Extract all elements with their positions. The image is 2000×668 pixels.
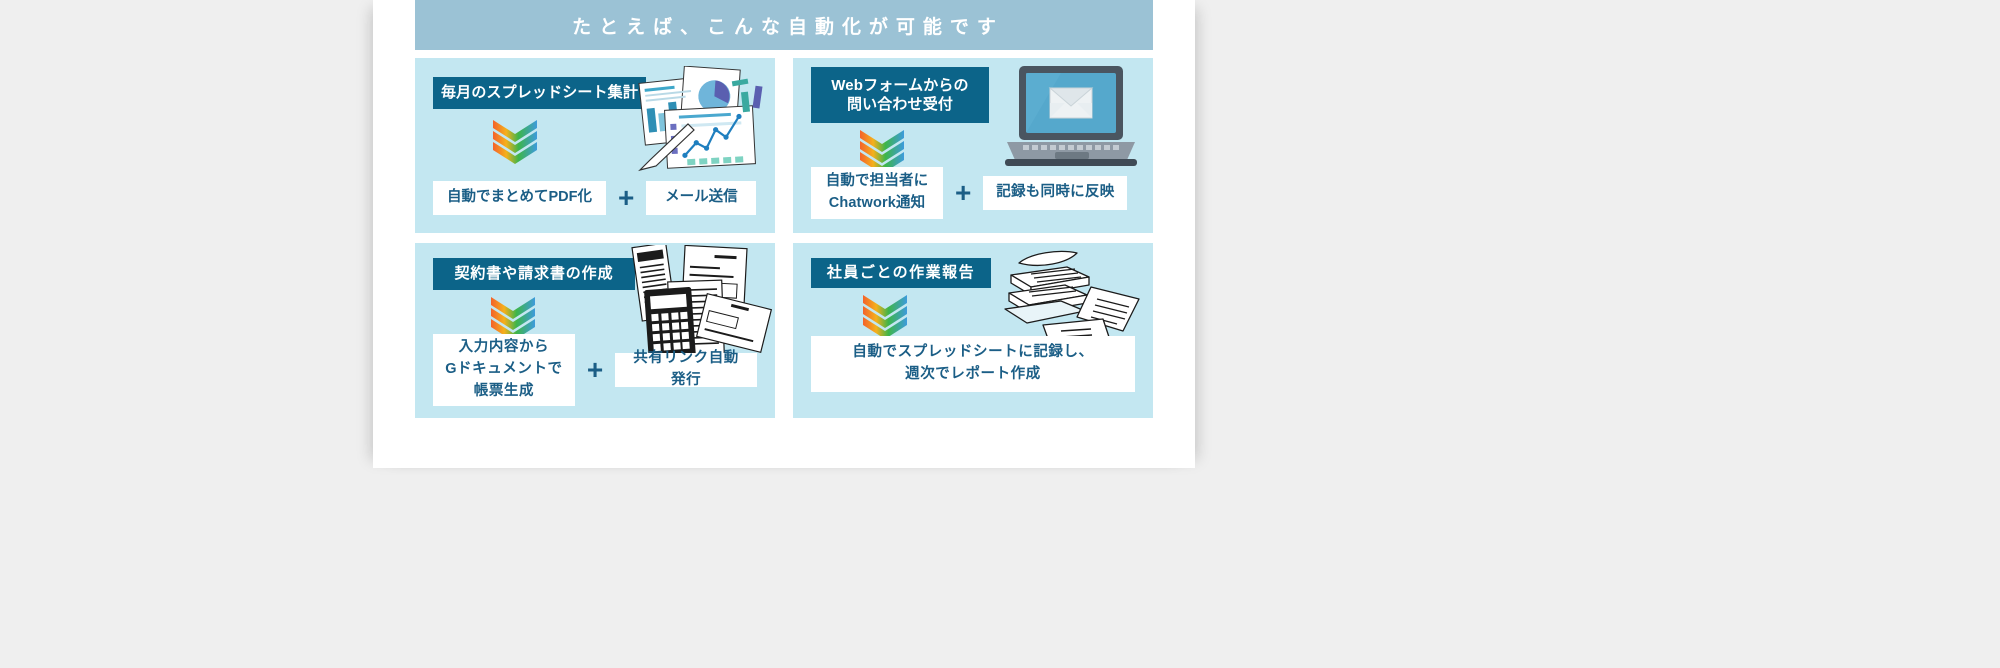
action-pill-chatwork[interactable]: 自動で担当者に Chatwork通知 — [811, 167, 943, 219]
action-pill-chatwork-line1: 自動で担当者に — [826, 173, 929, 189]
action-pill-gdoc-line3: 帳票生成 — [474, 383, 534, 399]
plus-connector-icon: + — [606, 184, 646, 212]
card-badge-line1: Webフォームからの — [831, 77, 968, 94]
card-badge: 契約書や請求書の作成 — [433, 258, 635, 290]
stacked-papers-illustration — [1001, 247, 1141, 347]
action-pill-chatwork-line2: Chatwork通知 — [829, 195, 926, 211]
card-spreadsheet-aggregation[interactable]: 毎月のスプレッドシート集計 — [415, 58, 775, 233]
action-pill-gdoc-line2: Gドキュメントで — [445, 361, 562, 377]
card-actions: 自動で担当者に Chatwork通知 + 記録も同時に反映 — [793, 167, 1153, 219]
action-pill-weekly-report[interactable]: 自動でスプレッドシートに記録し、 週次でレポート作成 — [811, 336, 1135, 392]
card-badge: 毎月のスプレッドシート集計 — [433, 77, 646, 109]
card-contract-invoice-creation[interactable]: 契約書や請求書の作成 — [415, 243, 775, 418]
action-pill-gdoc[interactable]: 入力内容から Gドキュメントで 帳票生成 — [433, 334, 575, 406]
plus-connector-icon: + — [575, 356, 615, 384]
card-webform-inquiry[interactable]: Webフォームからの 問い合わせ受付 — [793, 58, 1153, 233]
automation-card-grid: 毎月のスプレッドシート集計 — [415, 58, 1153, 418]
triple-chevron-down-icon — [491, 120, 539, 166]
card-badge: Webフォームからの 問い合わせ受付 — [811, 67, 989, 123]
card-badge: 社員ごとの作業報告 — [811, 258, 991, 288]
action-pill-record[interactable]: 記録も同時に反映 — [983, 176, 1127, 210]
content-container: たとえば、こんな自動化が可能です 毎月のスプレッドシート集計 — [415, 0, 1153, 422]
action-pill-pdf[interactable]: 自動でまとめてPDF化 — [433, 181, 606, 215]
action-pill-mail[interactable]: メール送信 — [646, 181, 756, 215]
section-title: たとえば、こんな自動化が可能です — [564, 12, 1004, 39]
screenshot-root: たとえば、こんな自動化が可能です 毎月のスプレッドシート集計 — [0, 0, 2000, 668]
section-header-bar: たとえば、こんな自動化が可能です — [415, 0, 1153, 50]
action-pill-sharelink[interactable]: 共有リンク自動発行 — [615, 353, 757, 387]
card-actions: 自動でまとめてPDF化 + メール送信 — [415, 181, 775, 215]
triple-chevron-down-icon — [861, 295, 909, 341]
plus-connector-icon: + — [943, 179, 983, 207]
card-badge-line2: 問い合わせ受付 — [847, 96, 953, 113]
charts-documents-pen-illustration — [636, 66, 771, 176]
laptop-envelope-illustration — [1001, 62, 1141, 174]
action-pill-weekly-report-line1: 自動でスプレッドシートに記録し、 — [852, 344, 1093, 360]
action-pill-gdoc-line1: 入力内容から — [459, 339, 549, 355]
action-pill-weekly-report-line2: 週次でレポート作成 — [905, 366, 1041, 382]
card-actions: 入力内容から Gドキュメントで 帳票生成 + 共有リンク自動発行 — [415, 334, 775, 406]
card-employee-work-report[interactable]: 社員ごとの作業報告 — [793, 243, 1153, 418]
card-actions: 自動でスプレッドシートに記録し、 週次でレポート作成 — [793, 336, 1153, 392]
